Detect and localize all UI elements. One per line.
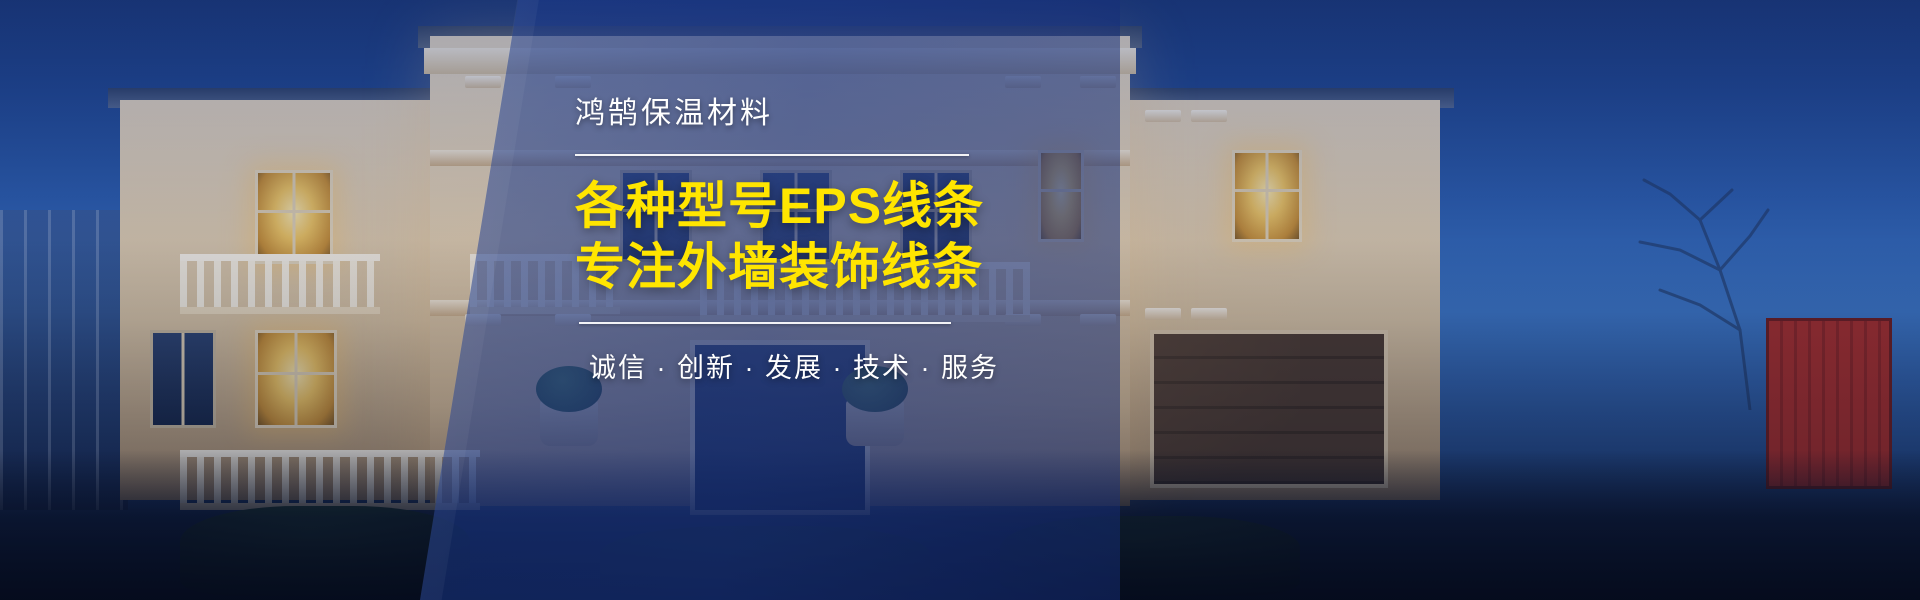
divider-top [575, 154, 969, 156]
window-lit [255, 170, 333, 264]
balustrade [180, 254, 380, 314]
banner-content: 鸿鹄保温材料 各种型号EPS线条 专注外墙装饰线条 诚信 · 创新 · 发展 ·… [575, 96, 1005, 385]
foreground-shadow [0, 450, 1920, 600]
headline-line-2: 专注外墙装饰线条 [575, 237, 1005, 298]
column [1196, 120, 1222, 310]
bare-tree [1600, 150, 1770, 410]
window-lit [255, 330, 337, 428]
column [1150, 120, 1176, 310]
brand-name: 鸿鹄保温材料 [575, 96, 1005, 132]
hero-banner: 鸿鹄保温材料 各种型号EPS线条 专注外墙装饰线条 诚信 · 创新 · 发展 ·… [0, 0, 1920, 600]
column [1085, 86, 1111, 316]
divider-bottom [579, 322, 951, 324]
window-dark [150, 330, 216, 428]
main-cornice [424, 48, 1136, 74]
window-lit [1038, 150, 1084, 242]
window-lit [1232, 150, 1302, 242]
tagline: 诚信 · 创新 · 发展 · 技术 · 服务 [575, 346, 1005, 385]
headline-line-1: 各种型号EPS线条 [575, 176, 1005, 237]
